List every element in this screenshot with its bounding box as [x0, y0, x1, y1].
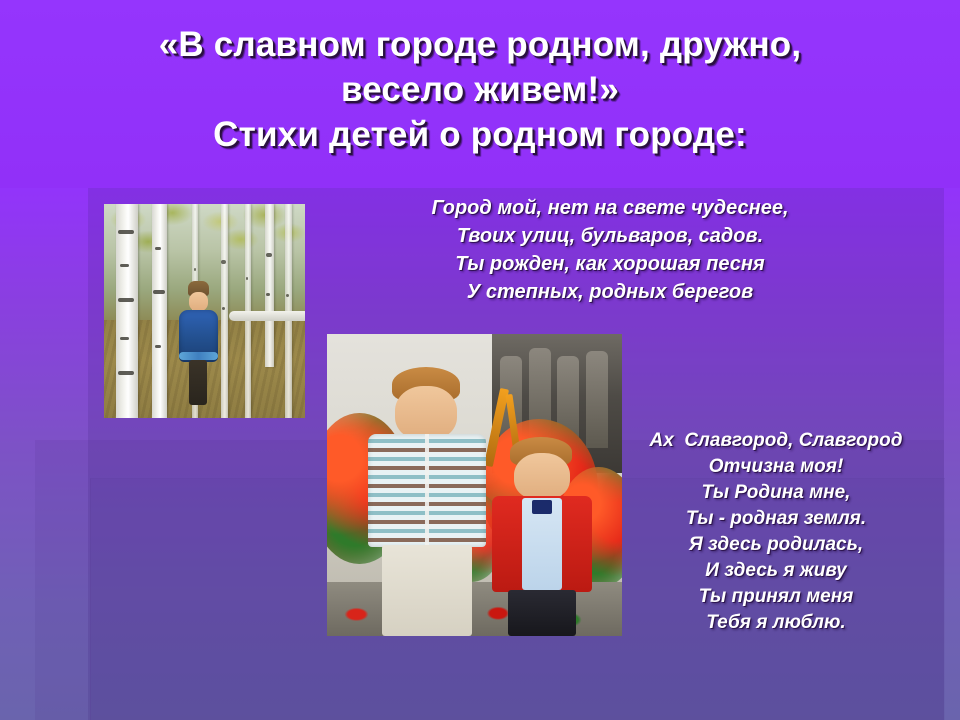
poem-2-line-1: Ах Славгород, Славгород — [600, 428, 952, 454]
birch-trunk-back — [221, 204, 228, 418]
title-line-3: Стихи детей о родном городе: — [0, 112, 960, 157]
slide: «В славном городе родном, дружно, весело… — [0, 0, 960, 720]
poem-2-line-7: Ты принял меня — [600, 584, 952, 610]
boy-head — [395, 386, 456, 440]
photo-memorial-boys — [327, 334, 622, 636]
memorial-boy-older — [368, 367, 486, 636]
poem-2: Ах Славгород, Славгород Отчизна моя! Ты … — [600, 428, 952, 636]
birch-boy — [176, 281, 220, 405]
poem-1: Город мой, нет на свете чудеснее, Твоих … — [300, 194, 920, 306]
poem-2-line-6: И здесь я живу — [600, 558, 952, 584]
poem-2-line-4: Ты - родная земля. — [600, 506, 952, 532]
poem-1-line-1: Город мой, нет на свете чудеснее, — [300, 194, 920, 222]
boy-bowtie — [532, 500, 552, 514]
boy-head — [189, 292, 208, 311]
boy-dark-trousers — [508, 590, 576, 636]
birch-trunk-fallen — [229, 311, 305, 321]
photo-memorial-boys-image — [327, 334, 622, 636]
boy-jacket-cuffs — [179, 352, 218, 361]
birch-trunk-front — [152, 204, 167, 418]
birch-trunk-back — [265, 204, 274, 367]
poem-1-line-2: Твоих улиц, бульваров, садов. — [300, 222, 920, 250]
photo-birch-grove-image — [104, 204, 305, 418]
boy-trousers — [189, 360, 208, 405]
birch-trunk-front — [116, 204, 138, 418]
title-line-2: весело живем!» — [0, 67, 960, 112]
poem-2-line-5: Я здесь родилась, — [600, 532, 952, 558]
boy-head — [514, 453, 570, 501]
poem-2-line-8: Тебя я люблю. — [600, 610, 952, 636]
memorial-boy-younger — [492, 437, 592, 636]
slide-title: «В славном городе родном, дружно, весело… — [0, 22, 960, 157]
boy-trousers — [382, 545, 472, 636]
poem-1-line-4: У степных, родных берегов — [300, 278, 920, 306]
poem-2-line-2: Отчизна моя! — [600, 454, 952, 480]
poem-2-line-3: Ты Родина мне, — [600, 480, 952, 506]
title-line-1: «В славном городе родном, дружно, — [0, 22, 960, 67]
poem-1-line-3: Ты рожден, как хорошая песня — [300, 250, 920, 278]
hoodie-zipper — [425, 434, 429, 547]
photo-birch-grove — [104, 204, 305, 418]
